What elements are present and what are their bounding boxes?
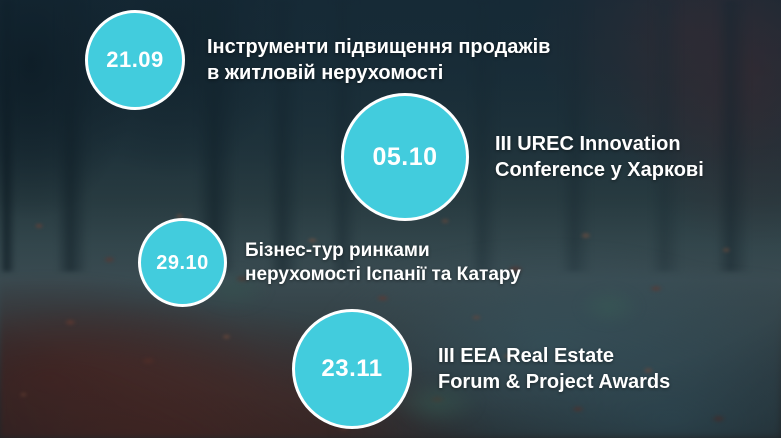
event-title: Інструменти підвищення продажів в житлов… [207,34,550,86]
date-label: 21.09 [106,49,164,71]
date-badge[interactable]: 05.10 [341,93,469,221]
date-label: 29.10 [156,253,209,273]
event-title: Бізнес-тур ринками нерухомості Іспанії т… [245,239,521,287]
date-label: 23.11 [321,357,382,381]
event-item[interactable]: 29.10 Бізнес-тур ринками нерухомості Ісп… [138,218,521,307]
date-badge[interactable]: 29.10 [138,218,227,307]
date-label: 05.10 [372,145,437,170]
event-title: III EEA Real Estate Forum & Project Awar… [438,343,670,395]
event-item[interactable]: 05.10 III UREC Innovation Conference у Х… [341,93,704,221]
event-title: III UREC Innovation Conference у Харкові [495,131,704,183]
event-schedule-banner: 21.09 Інструменти підвищення продажів в … [0,0,781,438]
event-item[interactable]: 23.11 III EEA Real Estate Forum & Projec… [292,309,670,429]
date-badge[interactable]: 23.11 [292,309,412,429]
date-badge[interactable]: 21.09 [85,10,185,110]
